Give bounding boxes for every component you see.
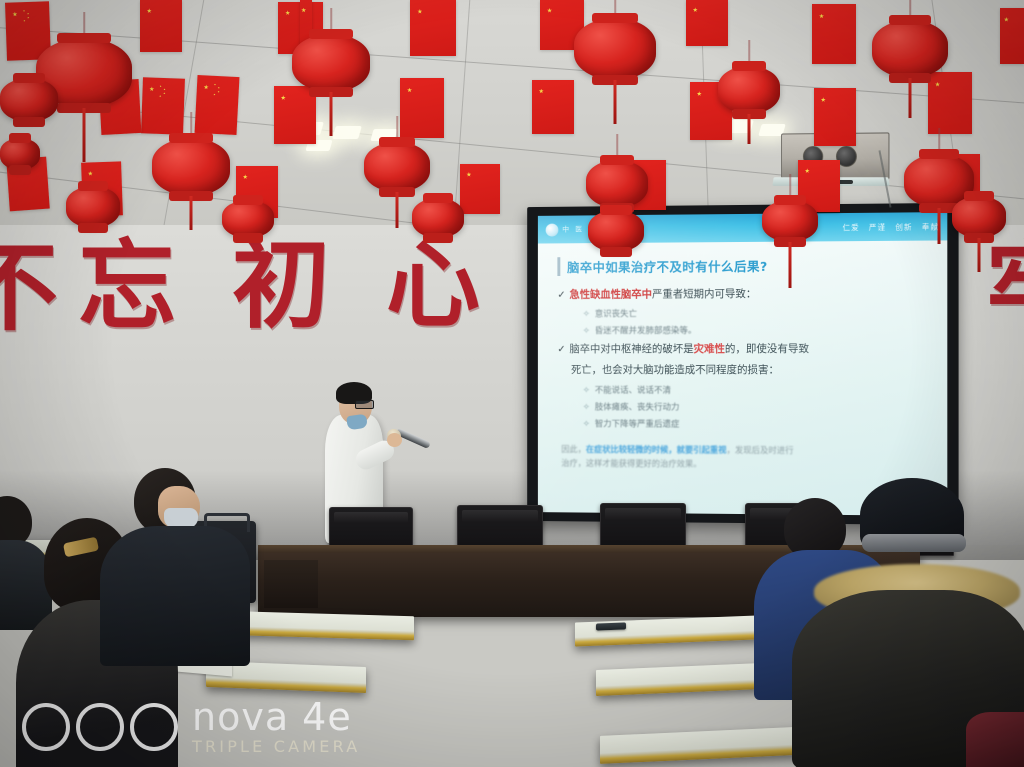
- chinese-flag: [686, 0, 728, 46]
- red-lantern: [412, 198, 464, 238]
- mobile-phone: [596, 622, 626, 630]
- chinese-flag: [400, 78, 444, 138]
- red-lantern: [718, 66, 780, 114]
- presenter-hand: [387, 433, 402, 447]
- audience-member: [966, 712, 1024, 767]
- slide-sub-bullet: ✧意识丧失亡: [583, 306, 929, 319]
- slide-bullet-1: ✓急性缺血性脑卒中严重者短期内可导致：: [557, 285, 929, 302]
- audience-member: [770, 478, 1020, 738]
- motto-1: 仁爱: [842, 221, 859, 232]
- chinese-flag: [814, 88, 856, 146]
- chinese-flag: [460, 164, 500, 214]
- bullet-2-highlight: 灾难性: [694, 343, 725, 355]
- red-lantern: [364, 142, 430, 192]
- footnote-emphasis: 在症状比较轻微的时候，就要引起重视: [586, 444, 727, 455]
- audience-body: [966, 712, 1024, 767]
- red-lantern: [0, 138, 40, 170]
- red-lantern: [222, 200, 274, 238]
- sub-bullet-text: 智力下降等严重后遗症: [595, 419, 680, 429]
- sub-bullet-text: 意识丧失亡: [595, 309, 637, 319]
- projection-screen: 中 医 院 仁爱 严谨 创新 奉献 脑卒中如果治疗不及时有什么后果? ✓急性缺血…: [538, 212, 947, 516]
- red-lantern: [952, 196, 1006, 238]
- chinese-flag: [140, 0, 182, 52]
- chinese-flag: [812, 4, 856, 64]
- slide-sub-bullet: ✧昏迷不醒并发肺部感染等。: [583, 324, 929, 337]
- check-icon: ✓: [557, 290, 565, 301]
- watermark-brand: nova 4e: [192, 698, 360, 736]
- sub-bullet-text: 昏迷不醒并发肺部感染等。: [595, 326, 697, 336]
- diamond-icon: ✧: [583, 386, 590, 396]
- diamond-icon: ✧: [583, 403, 590, 413]
- audience-body: [100, 526, 250, 666]
- bullet-1-rest: 严重者短期内可导致：: [652, 288, 756, 300]
- chinese-flag: [928, 72, 972, 134]
- chinese-flag: [1000, 8, 1024, 64]
- motto-2: 严谨: [869, 221, 886, 232]
- bullet-2-tail: 的，即使没有导致: [725, 343, 809, 355]
- red-lantern: [66, 186, 120, 228]
- beanie-band: [862, 534, 966, 552]
- slide-footnote: 因此，在症状比较轻微的时候，就要引起重视，发现后及时进行 治疗，这样才能获得更好…: [561, 443, 929, 473]
- motto-3: 创新: [895, 221, 912, 232]
- red-lantern: [586, 160, 648, 208]
- slide-bullet-2-line2: 死亡，也会对大脑功能造成不同程度的损害：: [571, 362, 929, 377]
- diamond-icon: ✧: [583, 419, 590, 429]
- slide-bullet-2: ✓脑卒中对中枢神经的破坏是灾难性的，即使没有导致: [557, 341, 929, 356]
- ceiling-light: [332, 126, 362, 139]
- audience-member: [108, 468, 248, 648]
- face-mask: [164, 508, 198, 528]
- chinese-flag: [410, 0, 456, 56]
- red-lantern: [574, 18, 656, 80]
- red-lantern: [762, 200, 818, 242]
- chinese-flag: [195, 75, 240, 135]
- side-cabinet: [264, 560, 318, 608]
- footnote-prefix: 因此，: [561, 444, 586, 454]
- slide-sub-bullet: ✧智力下降等严重后遗症: [583, 417, 929, 430]
- bullet-1-highlight: 急性缺血性脑卒中: [569, 288, 652, 300]
- chinese-flag: [141, 77, 185, 134]
- bullet-2-lead: 脑卒中对中枢神经的破坏是: [569, 343, 693, 355]
- watermark-tagline: TRIPLE CAMERA: [192, 739, 360, 755]
- red-lantern: [152, 138, 230, 196]
- slide-title: 脑卒中如果治疗不及时有什么后果?: [557, 255, 929, 276]
- footnote-middle: ，发现后及时进行: [727, 445, 794, 455]
- check-icon: ✓: [557, 344, 565, 355]
- red-lantern: [0, 78, 58, 122]
- diamond-icon: ✧: [583, 326, 590, 336]
- slide-body: 脑卒中如果治疗不及时有什么后果? ✓急性缺血性脑卒中严重者短期内可导致： ✧意识…: [538, 240, 947, 516]
- slide-mottos: 仁爱 严谨 创新 奉献: [842, 221, 939, 233]
- diamond-icon: ✧: [583, 310, 590, 320]
- photo-scene: 不 忘 初 心 牢 中 医 院 仁爱 严谨 创新 奉献 脑卒中如果治疗不及时有什: [0, 0, 1024, 767]
- chinese-flag: [532, 80, 574, 134]
- presenter-glasses-icon: [355, 400, 374, 409]
- slide-sub-bullet: ✧不能说话、说话不清: [583, 384, 929, 397]
- hospital-logo-icon: [546, 223, 559, 236]
- red-lantern: [588, 210, 644, 252]
- footnote-line2: 治疗，这样才能获得更好的治疗效果。: [561, 458, 701, 469]
- red-lantern: [292, 34, 370, 92]
- sub-bullet-text: 不能说话、说话不清: [595, 386, 671, 396]
- sub-bullet-text: 肢体瘫痪、丧失行动力: [595, 403, 680, 413]
- red-lantern: [872, 20, 948, 78]
- slide-sub-bullet: ✧肢体瘫痪、丧失行动力: [583, 401, 929, 414]
